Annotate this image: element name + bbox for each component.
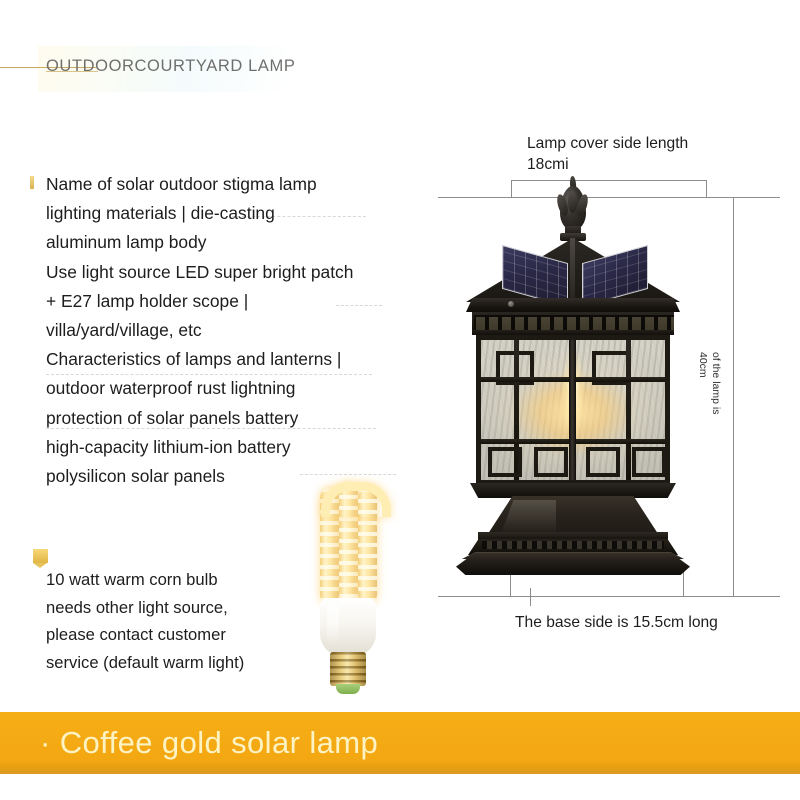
- desc-line: high-capacity lithium-ion battery: [46, 433, 418, 462]
- desc-line: Characteristics of lamps and lanterns |: [46, 345, 418, 374]
- desc-line: Name of solar outdoor stigma lamp: [46, 170, 418, 199]
- eave-screw: [508, 301, 514, 307]
- palm-leaflets: [794, 0, 800, 4]
- solar-post-lamp-image: [448, 180, 698, 590]
- dim-bottom-tick-mid: [530, 588, 531, 606]
- dim-bottom-label: The base side is 15.5cm long: [515, 612, 718, 633]
- bulb-note: 10 watt warm corn bulb needs other light…: [46, 566, 316, 676]
- bulb-note-line: service (default warm light): [46, 649, 316, 677]
- palm-leaflets: [793, 0, 800, 1]
- lantern-frame: [476, 335, 670, 485]
- gold-flag-icon: [33, 549, 48, 563]
- e27-threads: [330, 652, 366, 686]
- bulb-tube-bend: [321, 482, 391, 517]
- product-description: Name of solar outdoor stigma lamp lighti…: [46, 170, 418, 491]
- base-ring: [478, 532, 668, 540]
- bulb-note-line: please contact customer: [46, 621, 316, 649]
- palm-frond-decoration: [570, 0, 800, 215]
- gold-tick-marker: [30, 176, 34, 189]
- desc-line: aluminum lamp body: [46, 228, 418, 257]
- bulb-note-line: 10 watt warm corn bulb: [46, 566, 316, 594]
- dim-right-label-line2: 40cm: [697, 352, 710, 414]
- bottom-banner: · Coffee gold solar lamp: [0, 712, 800, 774]
- roof-eave: [466, 298, 680, 312]
- bulb-note-line: needs other light source,: [46, 594, 316, 622]
- e27-tip: [336, 684, 360, 694]
- infographic-canvas: OUTDOORCOURTYARD LAMP Name of solar outd…: [0, 0, 800, 800]
- desc-line: protection of solar panels battery: [46, 404, 418, 433]
- dim-right-label-line1: of the lamp is: [710, 352, 723, 414]
- dim-right-label: of the lamp is 40cm: [697, 352, 722, 414]
- dim-top-label-line2: 18cmi: [527, 154, 569, 175]
- lamp-roof: [466, 238, 680, 312]
- banner-title: · Coffee gold solar lamp: [40, 725, 378, 761]
- desc-line: outdoor waterproof rust lightning: [46, 374, 418, 403]
- desc-line: + E27 lamp holder scope |: [46, 287, 418, 316]
- roof-ridge: [570, 238, 575, 302]
- greek-key-fret-band: [472, 312, 674, 332]
- lantern-bottom-rail: [470, 483, 676, 498]
- led-corn-bulb-image: [300, 480, 396, 696]
- dentil-molding: [482, 541, 664, 549]
- base-foot: [456, 553, 690, 575]
- lantern-body: [476, 335, 670, 485]
- dim-bottom-baseline: [438, 596, 780, 597]
- desc-line: villa/yard/village, etc: [46, 316, 418, 345]
- dim-right-line: [733, 197, 734, 597]
- bulb-housing-highlight: [327, 604, 339, 644]
- desc-line: lighting materials | die-casting: [46, 199, 418, 228]
- page-title: OUTDOORCOURTYARD LAMP: [46, 57, 295, 76]
- desc-line: Use light source LED super bright patch: [46, 258, 418, 287]
